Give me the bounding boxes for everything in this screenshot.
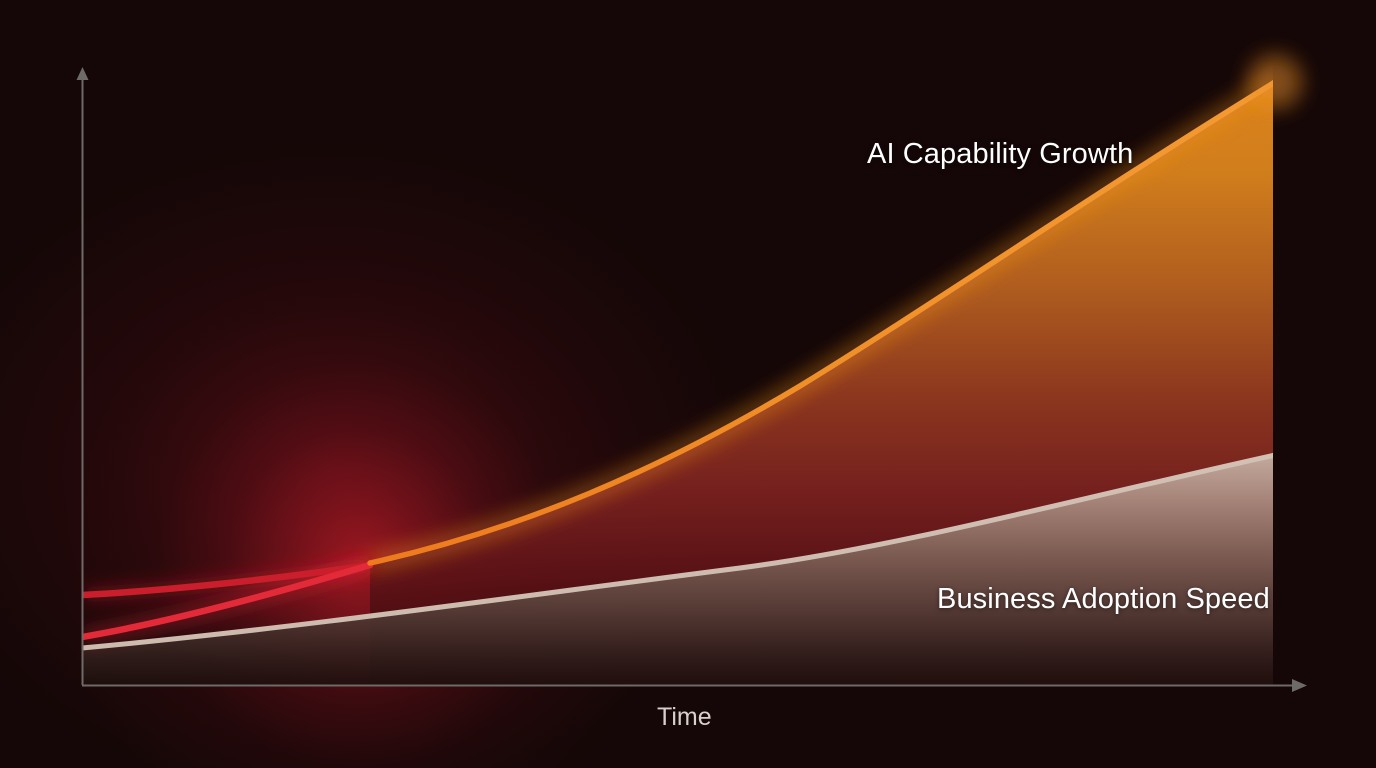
ai-peak-glow	[1249, 56, 1301, 108]
business-adoption-speed-label: Business Adoption Speed	[937, 583, 1270, 616]
x-axis-arrowhead	[1292, 679, 1307, 692]
ai-capability-growth-label: AI Capability Growth	[867, 138, 1133, 171]
chart-svg	[0, 0, 1376, 768]
x-axis-label: Time	[657, 703, 712, 732]
chart-canvas: AI Capability Growth Business Adoption S…	[0, 0, 1376, 768]
y-axis-arrowhead	[77, 67, 89, 80]
